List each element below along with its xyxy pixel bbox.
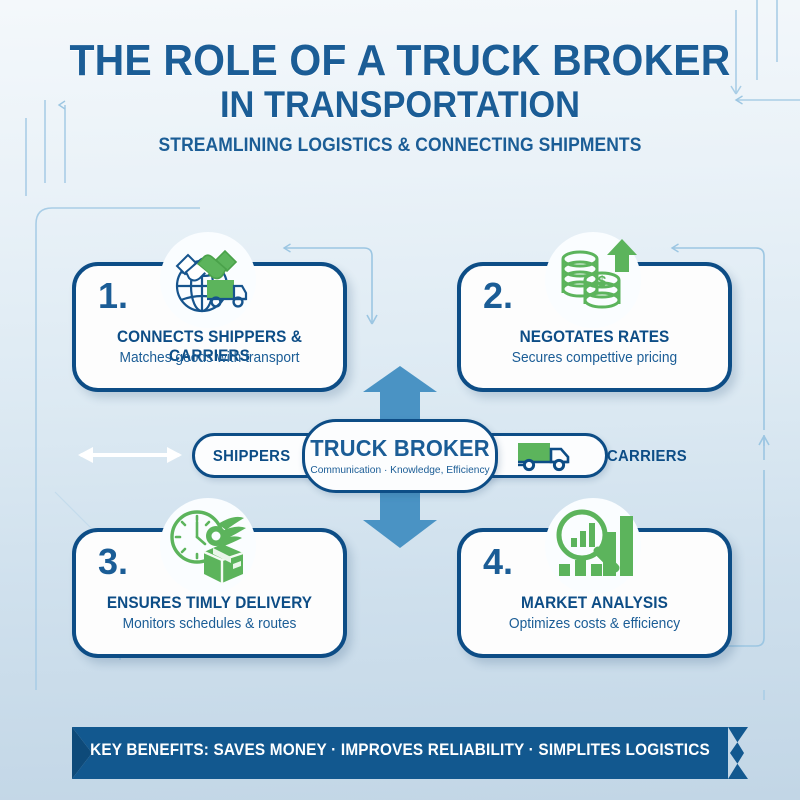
step-number-3: 3. — [98, 544, 128, 580]
poster-header: THE ROLE OF A TRUCK BROKER IN TRANSPORTA… — [0, 38, 800, 157]
coin-stack-up-arrow-icon: $ — [545, 232, 641, 328]
step-title-3: ENSURES TIMLY DELIVERY — [85, 594, 333, 613]
svg-text:$: $ — [598, 273, 607, 290]
hub-tagline: Communication · Knowledge, Efficiency — [308, 464, 492, 476]
step-number-1: 1. — [98, 278, 128, 314]
globe-handshake-truck-icon — [160, 232, 256, 328]
step-desc-3: Monitors schedules & routes — [83, 616, 337, 632]
page-subtitle: STREAMLINING LOGISTICS & CONNECTING SHIP… — [32, 135, 768, 157]
step-desc-1: Matches goods with transport — [83, 350, 337, 366]
hub-title: TRUCK BROKER — [310, 435, 491, 462]
step-number-4: 4. — [483, 544, 513, 580]
magnifier-bar-chart-icon — [545, 498, 641, 594]
hub-label-carriers: CARRIERS — [607, 448, 687, 466]
winged-clock-box-icon — [160, 498, 256, 594]
step-title-4: MARKET ANALYSIS — [470, 594, 718, 613]
hub-label-shippers: SHIPPERS — [213, 448, 290, 466]
green-box-truck-icon — [516, 440, 578, 477]
step-title-2: NEGOTATES RATES — [470, 328, 718, 347]
step-desc-2: Secures compettive pricing — [468, 350, 722, 366]
deco-diagonal — [55, 492, 95, 532]
page-title-line1: THE ROLE OF A TRUCK BROKER — [28, 38, 772, 84]
step-number-2: 2. — [483, 278, 513, 314]
arrow-left-right-icon — [78, 447, 182, 463]
truck-broker-hub[interactable]: TRUCK BROKER Communication · Knowledge, … — [302, 419, 498, 493]
infographic-poster: THE ROLE OF A TRUCK BROKER IN TRANSPORTA… — [0, 0, 800, 800]
step-desc-4: Optimizes costs & efficiency — [468, 616, 722, 632]
page-title-line2: IN TRANSPORTATION — [28, 84, 772, 126]
key-benefits-text: KEY BENEFITS: SAVES MONEY · IMPROVES REL… — [28, 741, 772, 760]
